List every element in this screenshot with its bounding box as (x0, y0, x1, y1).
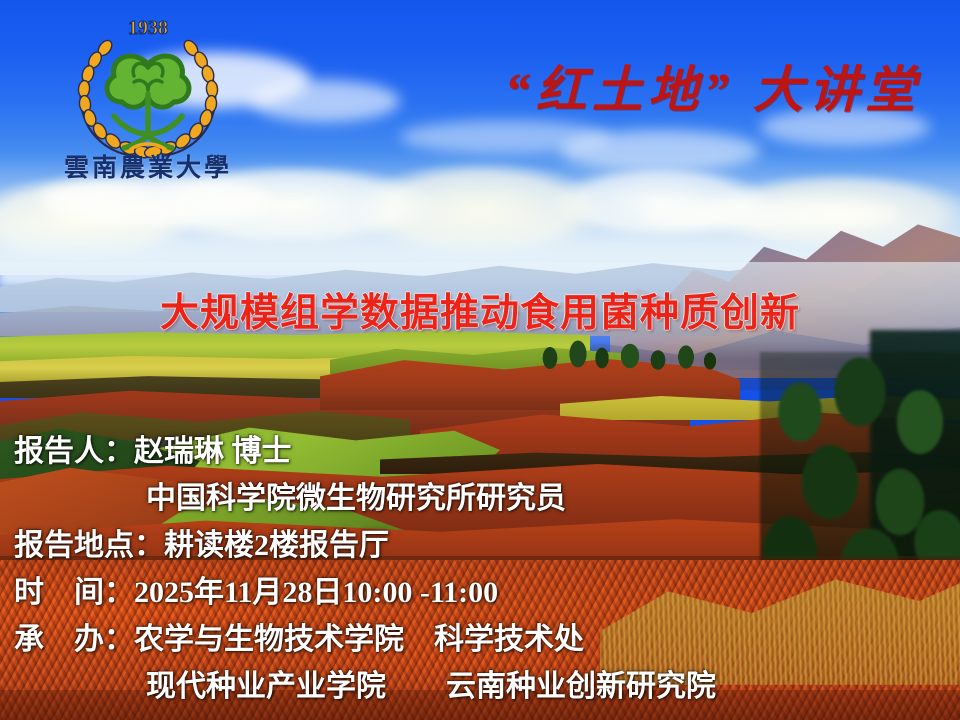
lecture-poster: 1938 (0, 0, 960, 720)
lecture-series-title: “红土地”大讲堂 (505, 52, 945, 128)
logo-university-name: 雲南農業大學 (48, 148, 248, 184)
cloud-decoration (250, 80, 400, 122)
time-line: 时 间：2025年11月28日10:00 -11:00 (0, 569, 960, 616)
ridge-trees (530, 332, 730, 372)
event-details: 报告人：赵瑞琳 博士 中国科学院微生物研究所研究员 报告地点：耕读楼2楼报告厅 … (0, 428, 960, 710)
logo-year: 1938 (128, 17, 168, 39)
page-title: 大规模组学数据推动食用菌种质创新 (0, 282, 960, 338)
cloud-decoration (640, 198, 900, 232)
organizer-line-2: 现代种业产业学院 云南种业创新研究院 (0, 663, 960, 710)
speaker-line: 报告人：赵瑞琳 博士 (0, 428, 960, 475)
speaker-affiliation: 中国科学院微生物研究所研究员 (0, 475, 960, 522)
series-suffix-part: 大讲堂 (753, 62, 921, 118)
series-quoted-part: “红土地” (505, 62, 735, 118)
organizer-line: 承 办：农学与生物技术学院 科学技术处 (0, 616, 960, 663)
venue-line: 报告地点：耕读楼2楼报告厅 (0, 522, 960, 569)
